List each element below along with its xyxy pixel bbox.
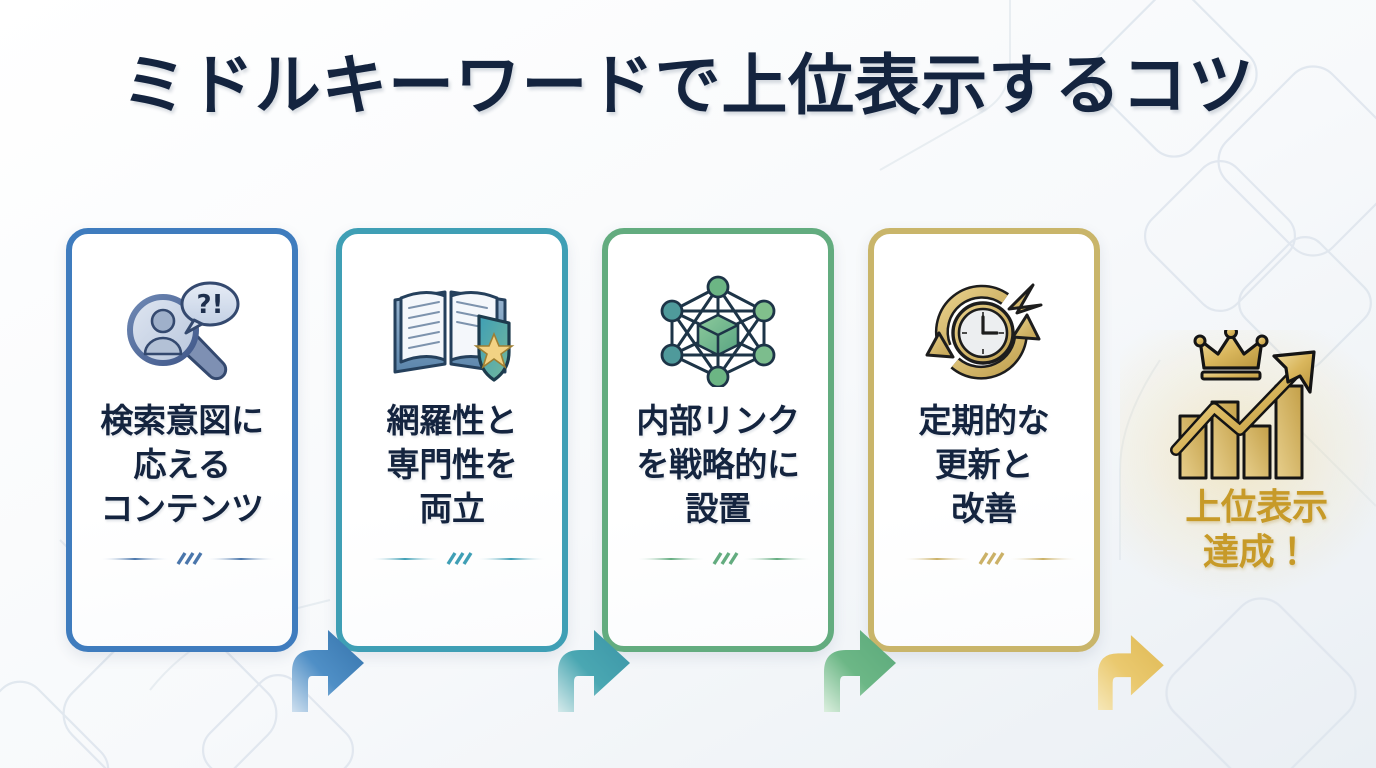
- step-card-3[interactable]: 内部リンク を戦略的に 設置: [602, 228, 834, 652]
- infographic-canvas: ミドルキーワードで上位表示するコツ: [0, 0, 1376, 768]
- page-title: ミドルキーワードで上位表示するコツ: [0, 48, 1376, 124]
- result-label: 上位表示 達成！: [1144, 485, 1369, 575]
- step-card-2[interactable]: 網羅性と 専門性を 両立: [336, 228, 568, 652]
- magnifier-person-question-icon: ?!: [72, 272, 292, 390]
- card-divider-ornament: [370, 550, 546, 568]
- card-divider-ornament: [636, 550, 812, 568]
- crown-growth-chart-icon: [1162, 330, 1352, 482]
- step-card-2-label: 網羅性と 専門性を 両立: [348, 399, 556, 531]
- step-card-1[interactable]: ?! 検索意図に 応える コンテンツ: [66, 228, 298, 652]
- result-block: 上位表示 達成！: [1150, 330, 1365, 600]
- network-nodes-cube-icon: [608, 272, 828, 390]
- svg-text:?!: ?!: [197, 290, 224, 320]
- step-card-1-label: 検索意図に 応える コンテンツ: [78, 399, 286, 531]
- card-divider-ornament: [902, 550, 1078, 568]
- step-card-4[interactable]: 定期的な 更新と 改善: [868, 228, 1100, 652]
- clock-refresh-arrows-icon: [874, 272, 1094, 390]
- step-card-3-label: 内部リンク を戦略的に 設置: [614, 399, 822, 531]
- flow-arrow-4: [1094, 626, 1166, 710]
- card-divider-ornament: [100, 550, 276, 568]
- book-shield-star-icon: [342, 272, 562, 390]
- step-card-4-label: 定期的な 更新と 改善: [880, 399, 1088, 531]
